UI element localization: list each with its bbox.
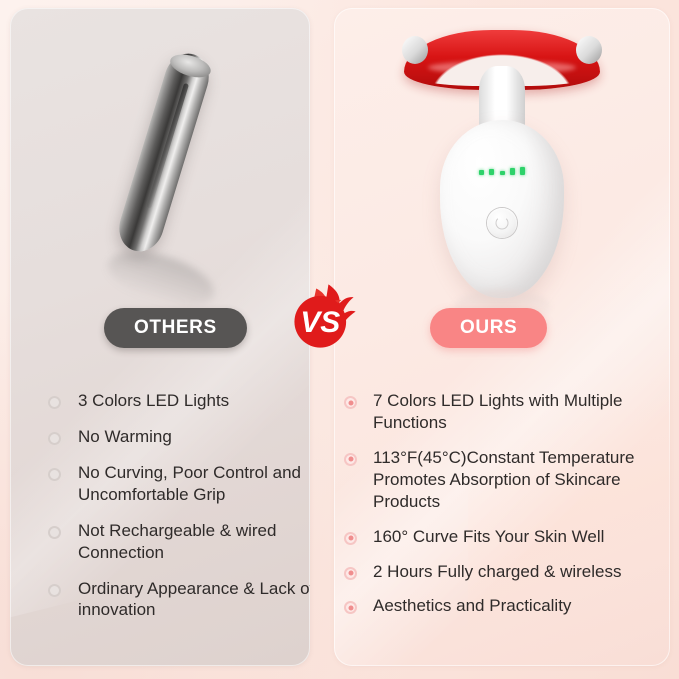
green-led-indicator-icon — [479, 166, 525, 175]
vs-label: VS — [300, 306, 340, 339]
list-item: Ordinary Appearance & Lack of innovation — [48, 578, 310, 622]
feature-label: 160° Curve Fits Your Skin Well — [373, 526, 604, 548]
bullet-dot-icon — [344, 396, 357, 409]
feature-label: Ordinary Appearance & Lack of innovation — [78, 578, 310, 622]
wand-seam-icon — [146, 83, 189, 209]
comparison-infographic: 3 Colors LED Lights No Warming No Curvin… — [0, 0, 679, 679]
bullet-dot-icon — [344, 532, 357, 545]
bullet-ring-icon — [48, 468, 61, 481]
bullet-ring-icon — [48, 432, 61, 445]
bullet-ring-icon — [48, 526, 61, 539]
bullet-dot-icon — [344, 601, 357, 614]
power-button-icon — [487, 208, 517, 238]
list-item: 3 Colors LED Lights — [48, 390, 310, 412]
list-item: 113°F(45°C)Constant Temperature Promotes… — [344, 447, 670, 513]
feature-label: No Curving, Poor Control and Uncomfortab… — [78, 462, 310, 506]
list-item: No Curving, Poor Control and Uncomfortab… — [48, 462, 310, 506]
bullet-ring-icon — [48, 584, 61, 597]
wand-reflection — [102, 241, 221, 317]
list-item: Not Rechargeable & wired Connection — [48, 520, 310, 564]
feature-label: 2 Hours Fully charged & wireless — [373, 561, 621, 583]
feature-label: No Warming — [78, 426, 172, 448]
list-item: Aesthetics and Practicality — [344, 595, 670, 617]
neck-lift-device-icon — [334, 8, 670, 308]
list-item: 2 Hours Fully charged & wireless — [344, 561, 670, 583]
feature-label: 7 Colors LED Lights with Multiple Functi… — [373, 390, 670, 434]
led-tip-left-icon — [402, 36, 428, 64]
ours-product-image — [334, 8, 670, 308]
list-item: 7 Colors LED Lights with Multiple Functi… — [344, 390, 670, 434]
others-feature-list: 3 Colors LED Lights No Warming No Curvin… — [10, 390, 310, 635]
list-item: No Warming — [48, 426, 310, 448]
wand-cap-icon — [167, 50, 213, 81]
metallic-wand-icon — [113, 48, 215, 257]
device-body — [440, 120, 564, 298]
feature-label: Not Rechargeable & wired Connection — [78, 520, 310, 564]
feature-label: 3 Colors LED Lights — [78, 390, 229, 412]
feature-label: 113°F(45°C)Constant Temperature Promotes… — [373, 447, 670, 513]
list-item: 160° Curve Fits Your Skin Well — [344, 526, 670, 548]
ours-feature-list: 7 Colors LED Lights with Multiple Functi… — [334, 390, 670, 630]
bullet-dot-icon — [344, 567, 357, 580]
bullet-ring-icon — [48, 396, 61, 409]
bullet-dot-icon — [344, 453, 357, 466]
ours-badge: OURS — [430, 308, 547, 348]
feature-label: Aesthetics and Practicality — [373, 595, 571, 617]
others-badge: OTHERS — [104, 308, 247, 348]
vs-flame-emblem-icon: VS — [289, 283, 357, 351]
led-tip-right-icon — [576, 36, 602, 64]
others-product-image — [10, 8, 310, 308]
